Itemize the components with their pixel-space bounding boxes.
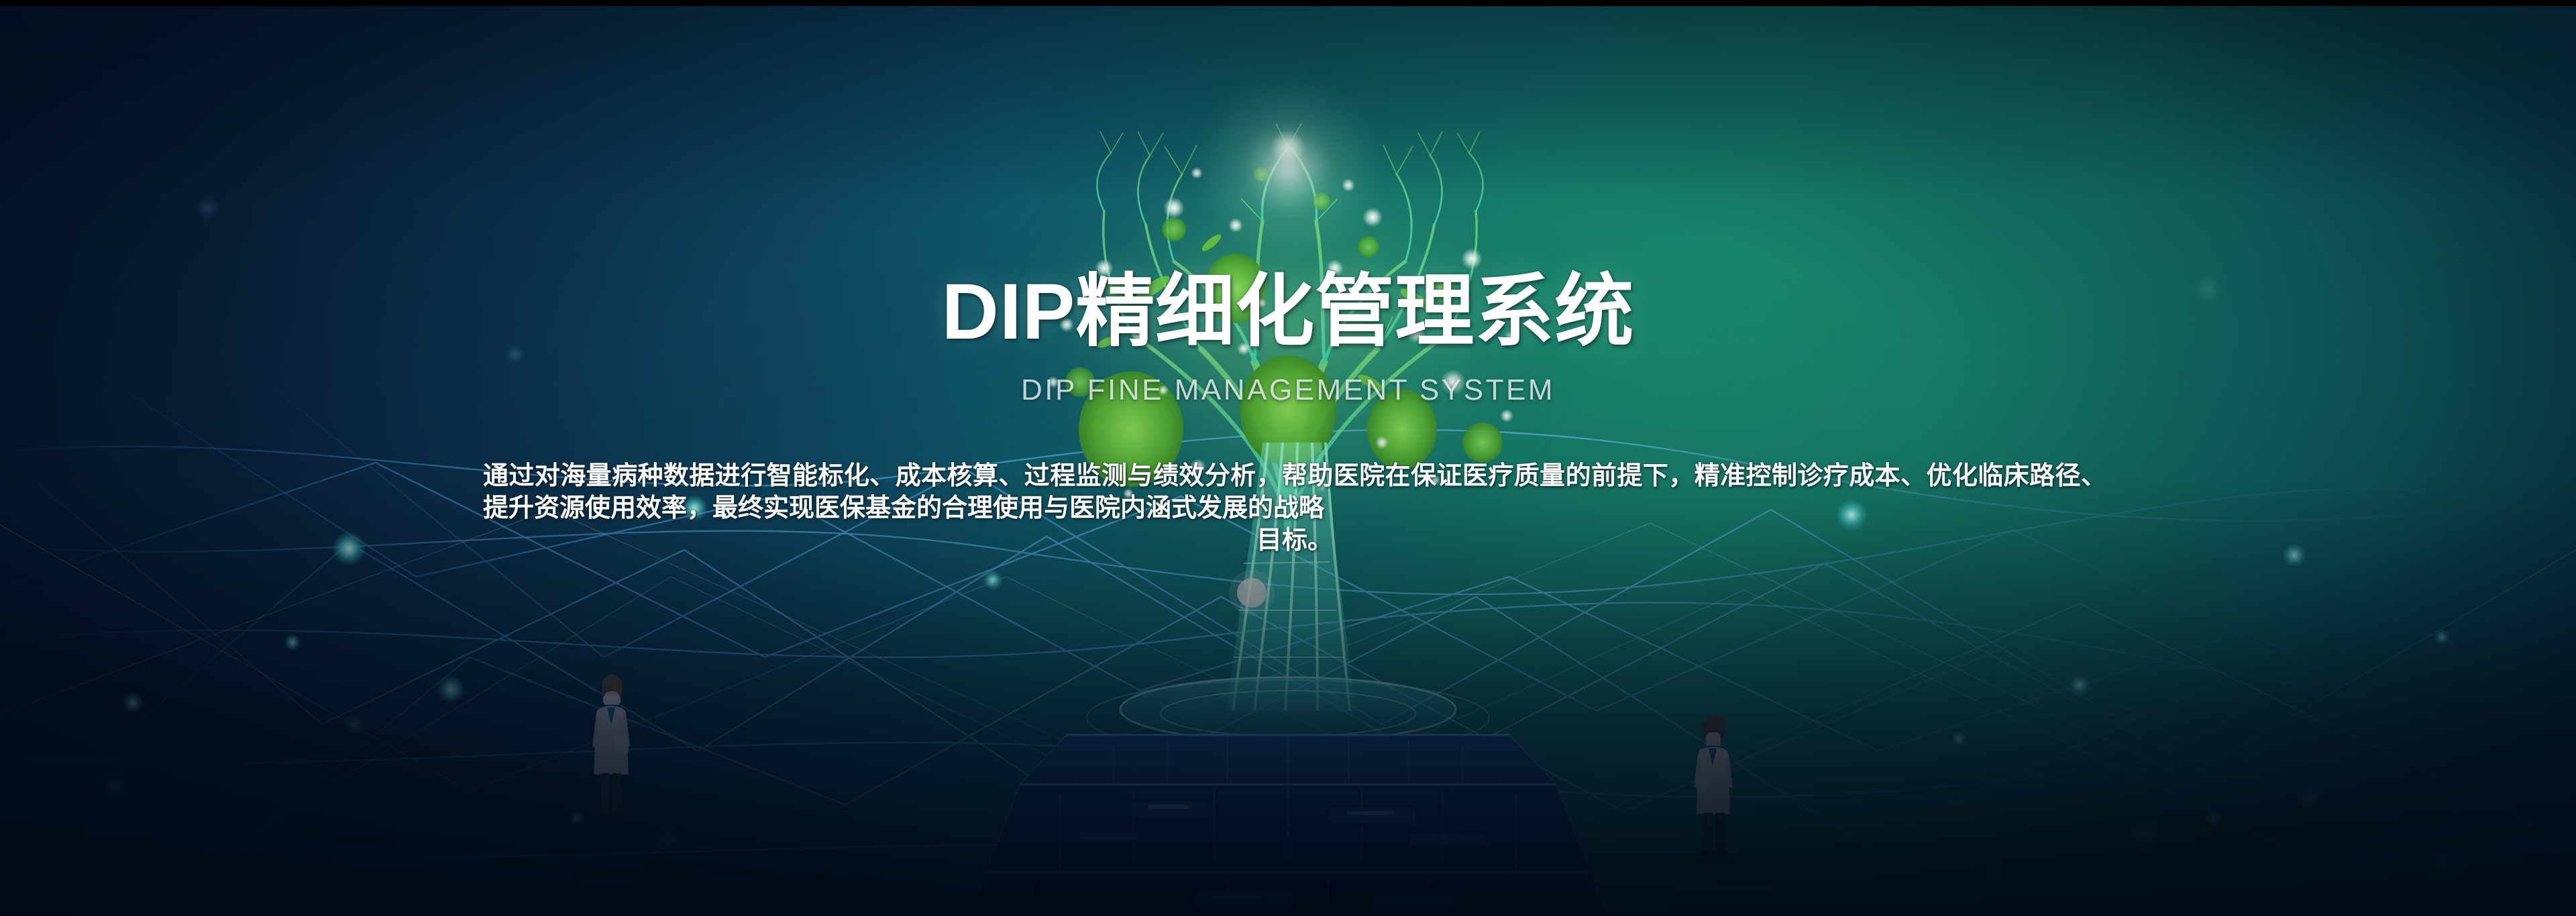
hero-banner: DIP精细化管理系统 DIP FINE MANAGEMENT SYSTEM 通过…	[0, 0, 2576, 916]
vignette-overlay	[0, 0, 2576, 916]
top-black-strip	[0, 0, 2576, 6]
